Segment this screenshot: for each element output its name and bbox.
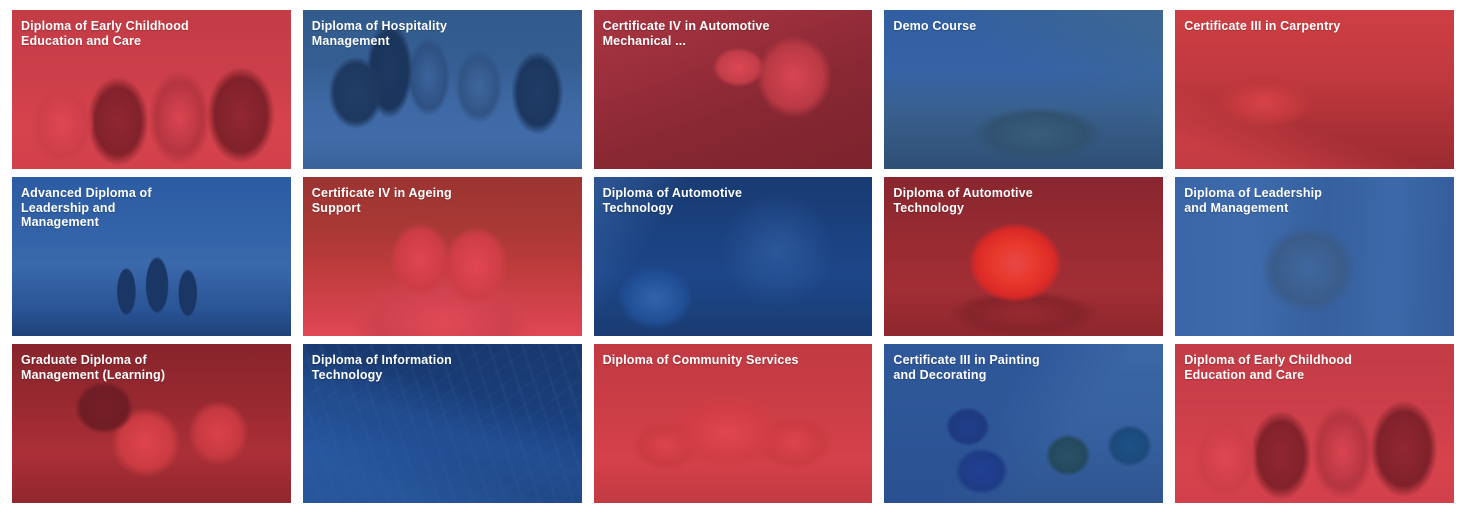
- course-card[interactable]: Diploma of Early Childhood Education and…: [1175, 344, 1454, 503]
- course-title: Diploma of Leadership and Management: [1184, 186, 1420, 215]
- color-overlay: [594, 344, 873, 503]
- course-title: Certificate IV in Automotive Mechanical …: [603, 19, 839, 48]
- course-card[interactable]: Demo Course: [884, 10, 1163, 169]
- course-title: Advanced Diploma of Leadership and Manag…: [21, 186, 257, 230]
- course-card[interactable]: Diploma of Early Childhood Education and…: [12, 10, 291, 169]
- course-card[interactable]: Diploma of Leadership and Management: [1175, 177, 1454, 336]
- course-card[interactable]: Certificate IV in Automotive Mechanical …: [594, 10, 873, 169]
- course-title: Demo Course: [893, 19, 1129, 34]
- course-title: Diploma of Early Childhood Education and…: [1184, 353, 1420, 382]
- course-card-grid: Diploma of Early Childhood Education and…: [0, 0, 1466, 515]
- course-title: Graduate Diploma of Management (Learning…: [21, 353, 257, 382]
- course-card[interactable]: Diploma of Community Services: [594, 344, 873, 503]
- course-card[interactable]: Certificate IV in Ageing Support: [303, 177, 582, 336]
- course-title: Diploma of Hospitality Management: [312, 19, 548, 48]
- color-overlay: [1175, 10, 1454, 169]
- course-card[interactable]: Graduate Diploma of Management (Learning…: [12, 344, 291, 503]
- course-card[interactable]: Diploma of Automotive Technology: [594, 177, 873, 336]
- course-card[interactable]: Diploma of Automotive Technology: [884, 177, 1163, 336]
- course-title: Diploma of Information Technology: [312, 353, 548, 382]
- course-card[interactable]: Diploma of Information Technology: [303, 344, 582, 503]
- course-title: Diploma of Early Childhood Education and…: [21, 19, 257, 48]
- course-title: Diploma of Automotive Technology: [603, 186, 839, 215]
- course-card[interactable]: Certificate III in Carpentry: [1175, 10, 1454, 169]
- course-title: Certificate IV in Ageing Support: [312, 186, 548, 215]
- course-title: Diploma of Automotive Technology: [893, 186, 1129, 215]
- color-overlay: [884, 10, 1163, 169]
- course-card[interactable]: Certificate III in Painting and Decorati…: [884, 344, 1163, 503]
- course-card[interactable]: Diploma of Hospitality Management: [303, 10, 582, 169]
- course-card[interactable]: Advanced Diploma of Leadership and Manag…: [12, 177, 291, 336]
- course-title: Certificate III in Carpentry: [1184, 19, 1420, 34]
- course-title: Diploma of Community Services: [603, 353, 839, 368]
- course-title: Certificate III in Painting and Decorati…: [893, 353, 1129, 382]
